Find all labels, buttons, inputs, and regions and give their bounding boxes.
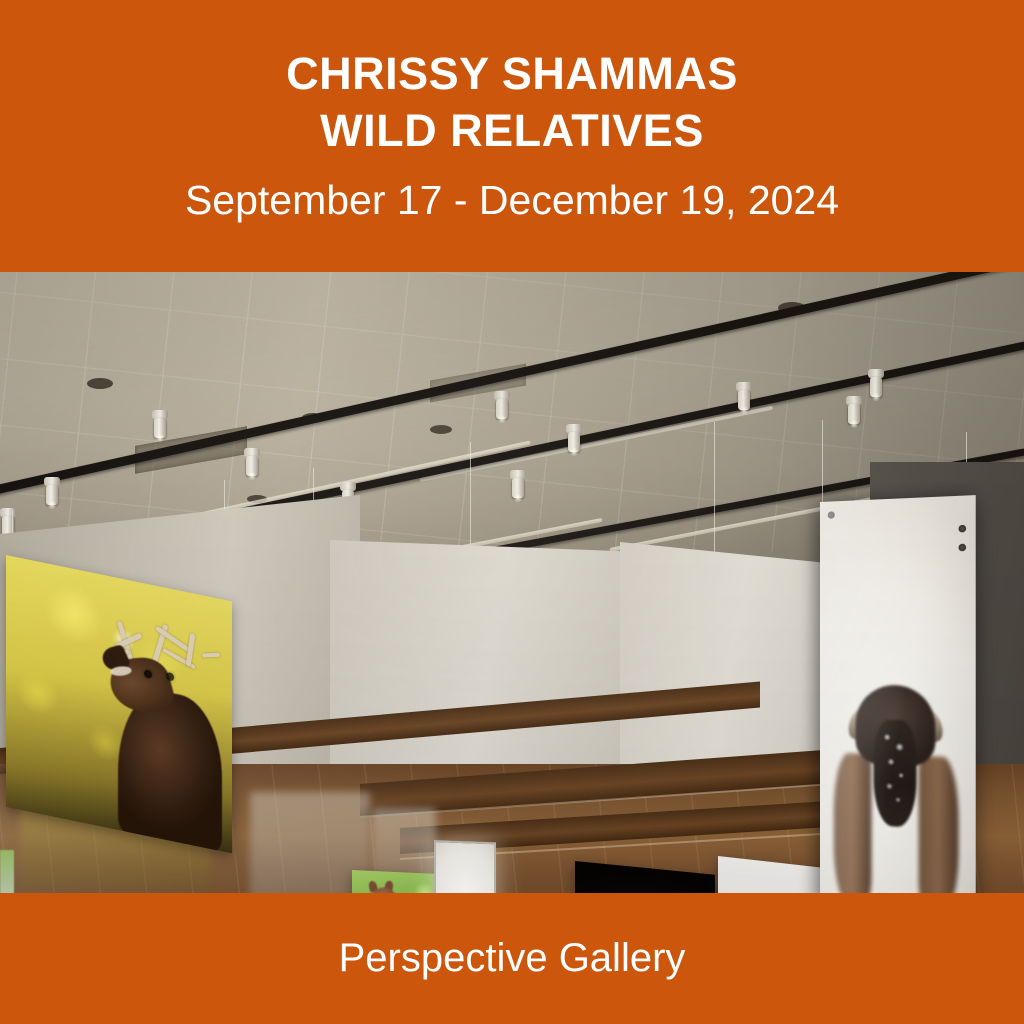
track-spotlight (44, 477, 60, 507)
track-spotlight (244, 448, 260, 478)
ceiling-speaker-icon (430, 425, 452, 434)
artwork-bugling-elk (6, 555, 232, 853)
track-spotlight (510, 470, 526, 500)
exhibition-poster: CHRISSY SHAMMAS WILD RELATIVES September… (0, 0, 1024, 1024)
track-spotlight (494, 391, 510, 421)
track-spotlight (152, 410, 168, 440)
track-spotlight (736, 382, 752, 412)
poster-footer: Perspective Gallery (0, 893, 1024, 1024)
artwork-hanging-wire (822, 420, 823, 514)
lit-doorway (434, 840, 496, 893)
venue-name: Perspective Gallery (339, 936, 686, 981)
ceiling-speaker-icon (87, 378, 113, 389)
track-spotlight (846, 396, 862, 426)
artwork-hanging-wire (714, 422, 715, 570)
exhibition-date-range: September 17 - December 19, 2024 (185, 174, 839, 227)
artwork-edge-sliver (0, 850, 14, 893)
poster-header: CHRISSY SHAMMAS WILD RELATIVES September… (0, 0, 1024, 272)
track-spotlight (566, 424, 582, 454)
artist-name: CHRISSY SHAMMAS (286, 45, 738, 103)
track-spotlight (868, 369, 884, 399)
gallery-interior-photo (0, 272, 1024, 893)
exhibition-title: WILD RELATIVES (320, 102, 704, 160)
artwork-snow-dusted-bison (820, 495, 976, 893)
